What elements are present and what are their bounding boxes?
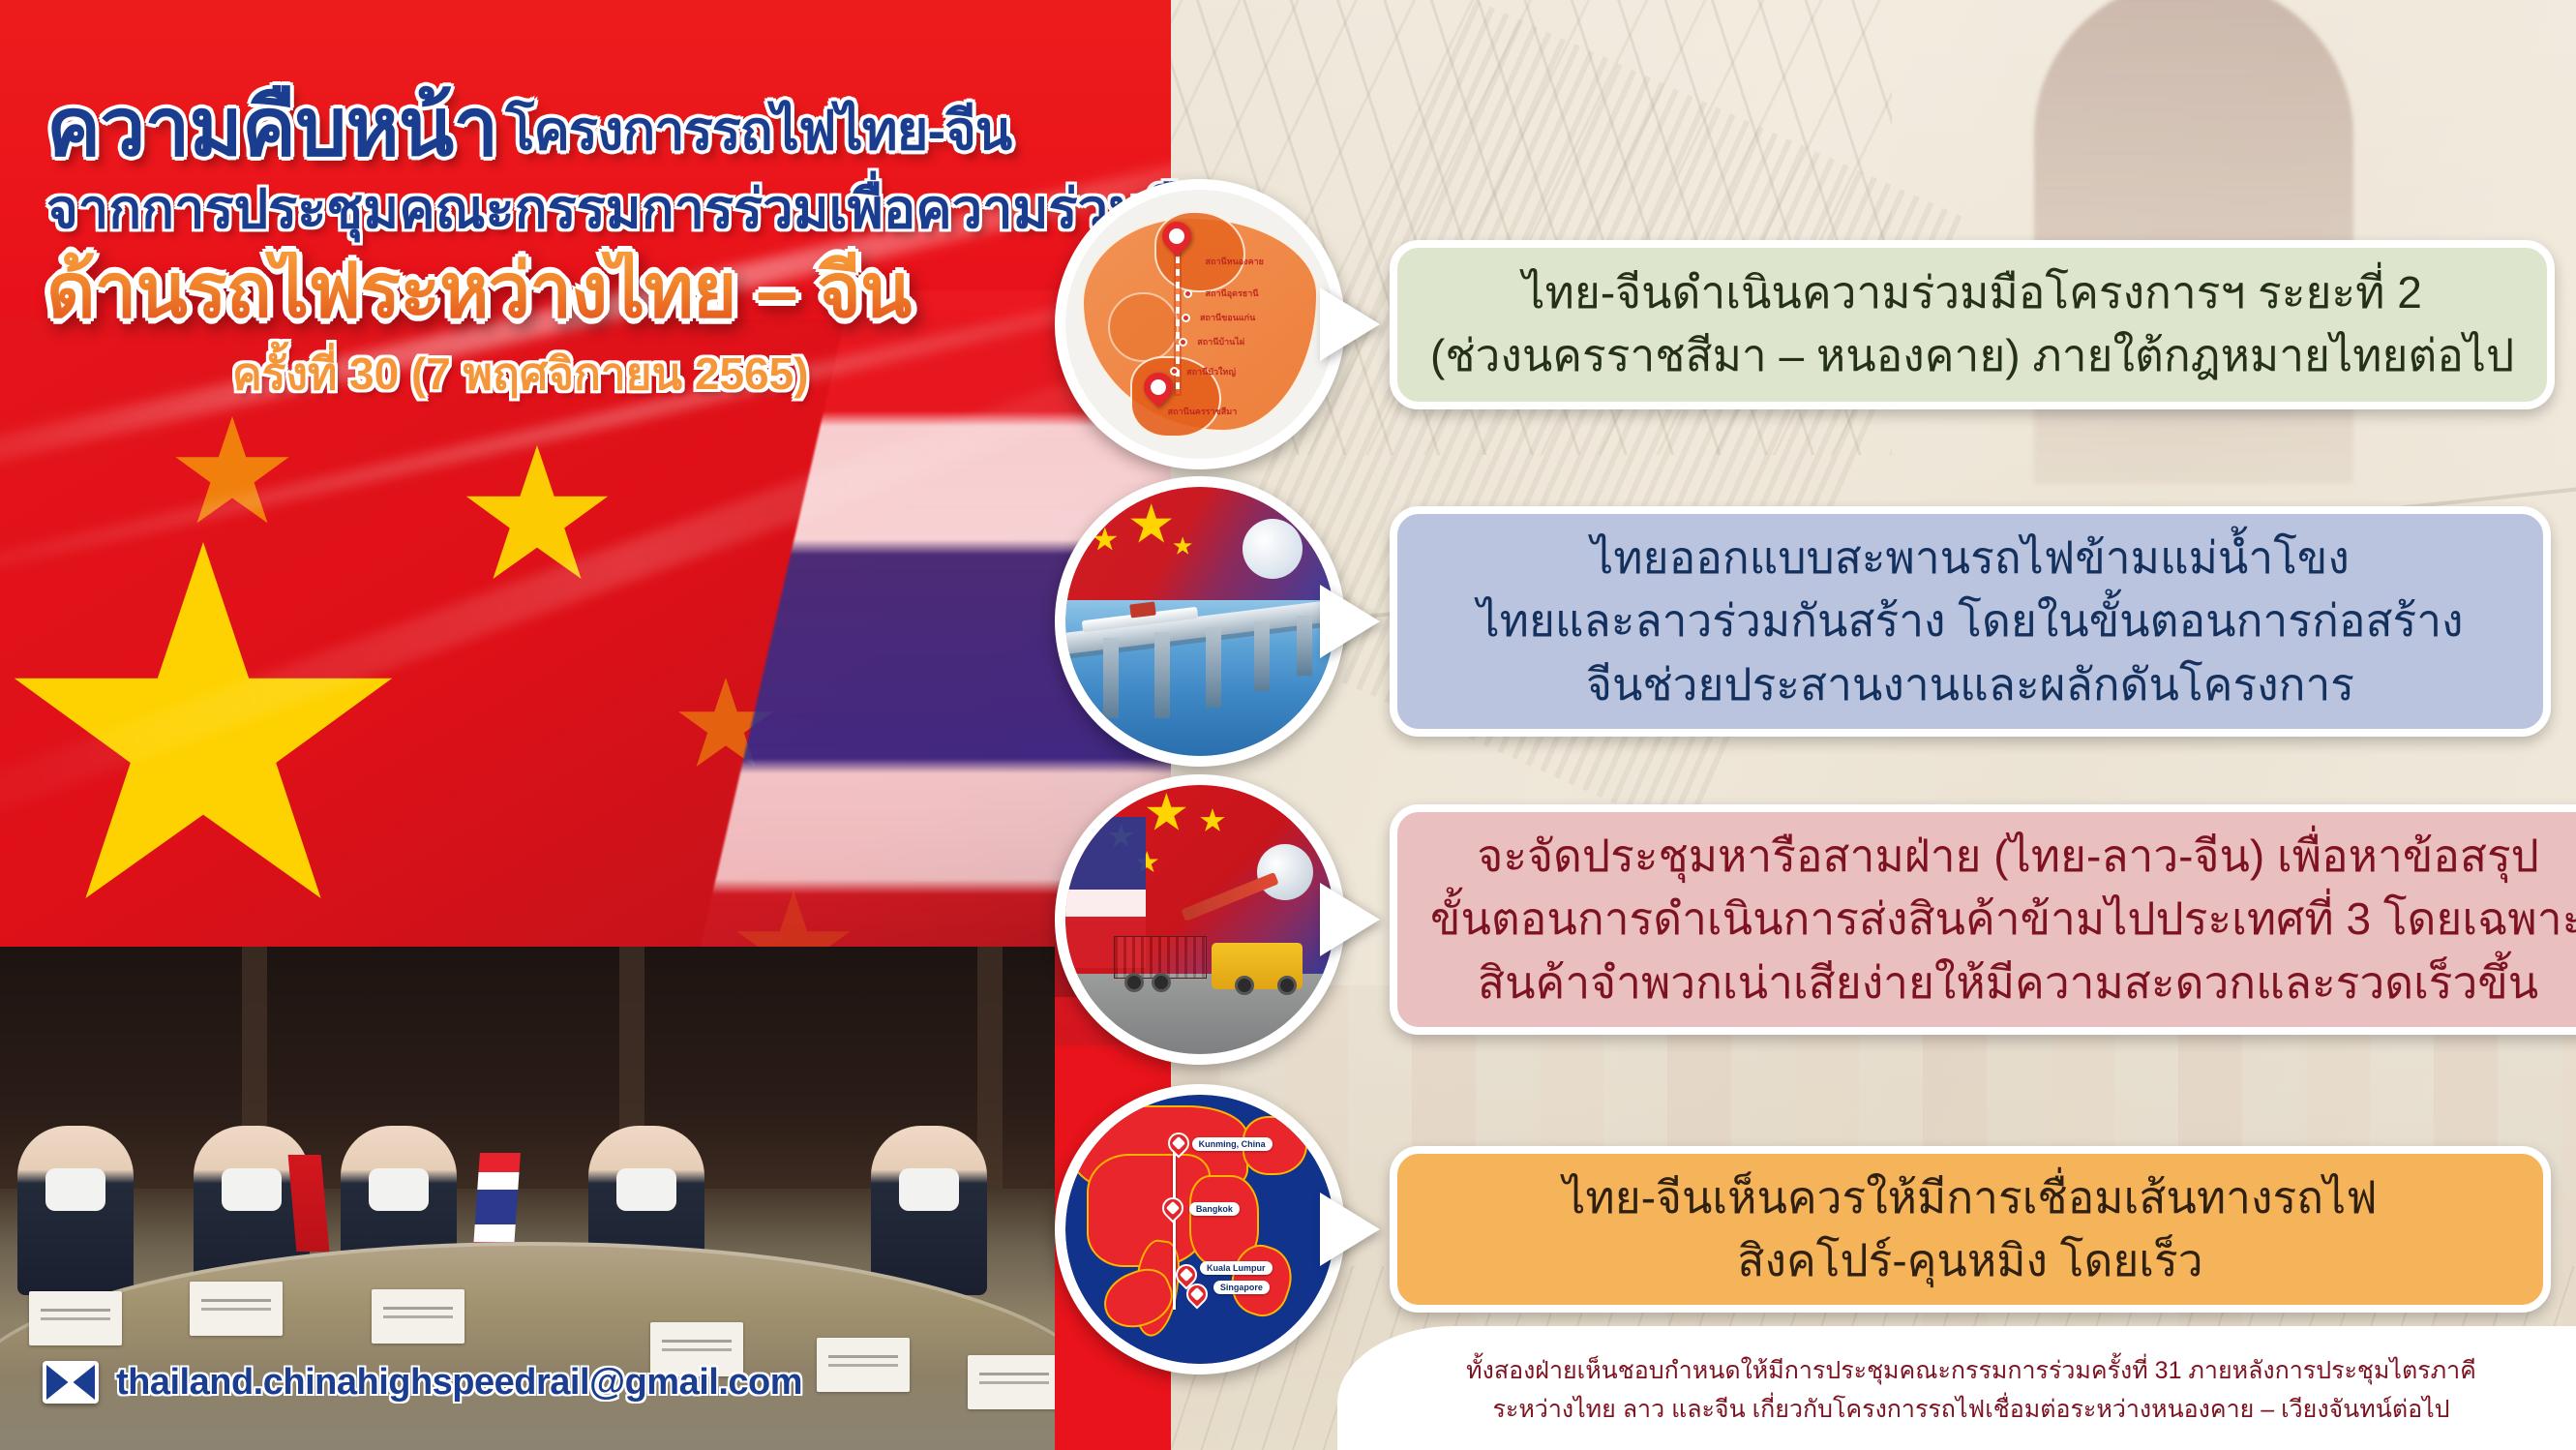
callout-pointer <box>1320 883 1380 956</box>
callout-box-1: ไทย-จีนดำเนินความร่วมมือโครงการฯ ระยะที่… <box>1390 240 2555 409</box>
callout-icon-wrap-2 <box>1055 476 1345 767</box>
bridge-pier <box>1297 616 1312 675</box>
nameplate <box>372 1289 464 1344</box>
nameplate <box>817 1338 910 1392</box>
callout-text-line: ไทยและลาวร่วมกันสร้าง โดยในขั้นตอนการก่อ… <box>1477 589 2463 652</box>
isan-province <box>1108 292 1178 362</box>
callout-text-line: ไทย-จีนเห็นควรให้มีการเชื่อมเส้นทางรถไฟ <box>1563 1166 2377 1229</box>
envelope-icon <box>43 1361 99 1404</box>
callout-text-line: จีนช่วยประสานงานและผลักดันโครงการ <box>1586 653 2354 716</box>
station-dot <box>1182 314 1190 322</box>
face-mask-icon <box>45 1168 105 1211</box>
poster-title-block: ความคืบหน้าโครงการรถไฟไทย-จีน จากการประช… <box>0 85 1113 398</box>
contact-email-bar[interactable]: thailand.chinahighspeedrail@gmail.com <box>43 1361 802 1404</box>
callout-pointer <box>1320 287 1380 361</box>
stacker-wheel <box>1277 976 1297 995</box>
bottom-note: ทั้งสองฝ่ายเห็นชอบกำหนดให้มีการประชุมคณะ… <box>1337 1326 2576 1450</box>
station-label: สถานีหนองคาย <box>1206 255 1264 268</box>
callout-icon-wrap-3 <box>1055 774 1345 1065</box>
callout-text-line: สิงคโปร์-คุนหมิง โดยเร็ว <box>1737 1229 2202 1292</box>
callout-text-line: ไทย-จีนดำเนินความร่วมมือโครงการฯ ระยะที่… <box>1522 261 2421 324</box>
stacker-wheel <box>1235 976 1254 995</box>
city-label: Singapore <box>1213 1281 1270 1294</box>
callout-pointer <box>1320 585 1380 658</box>
nameplate <box>968 1355 1055 1409</box>
isan-map-inner: สถานีหนองคาย สถานีอุดรธานี สถานีขอนแก่น … <box>1065 190 1334 459</box>
city-label: Bangkok <box>1189 1202 1240 1216</box>
face-mask-icon <box>899 1168 959 1211</box>
callout-row-3: จะจัดประชุมหารือสามฝ่าย (ไทย-ลาว-จีน) เพ… <box>1055 774 2551 1065</box>
bridge-pier <box>1254 621 1270 691</box>
title-meeting-number-date: ครั้งที่ 30 (7 พฤศจิกายน 2565) <box>0 351 1113 398</box>
southeast-asia-rail-map-icon: Kunming, China Bangkok Kuala Lumpur Sing… <box>1055 1084 1345 1374</box>
title-line-2: จากการประชุมคณะกรรมการร่วมเพื่อความร่วมม… <box>0 181 1113 237</box>
callout-row-1: สถานีหนองคาย สถานีอุดรธานี สถานีขอนแก่น … <box>1055 179 2551 469</box>
station-label: สถานีบัวใหญ่ <box>1186 365 1236 378</box>
boxcar <box>1129 601 1156 618</box>
moon-icon <box>1243 519 1303 579</box>
mekong-railway-bridge-icon <box>1055 476 1345 767</box>
face-mask-icon <box>616 1168 676 1211</box>
station-label: สถานีบ้านไผ่ <box>1197 335 1244 348</box>
station-label: สถานีนครราชสีมา <box>1168 405 1238 418</box>
rail-route-line <box>1173 1143 1176 1310</box>
callout-text-line: ขั้นตอนการดำเนินการส่งสินค้าข้ามไปประเทศ… <box>1430 888 2576 951</box>
station-label: สถานีขอนแก่น <box>1200 311 1255 324</box>
bridge-graphic <box>1065 487 1334 756</box>
callout-text-line: ไทยออกแบบสะพานรถไฟข้ามแม่น้ำโขง <box>1591 527 2350 589</box>
yard-inner <box>1065 785 1334 1054</box>
callout-row-2: ไทยออกแบบสะพานรถไฟข้ามแม่น้ำโขง ไทยและลา… <box>1055 476 2551 767</box>
container-yard-graphic <box>1065 785 1334 1054</box>
callout-text-line: (ช่วงนครราชสีมา – หนองคาย) ภายใต้กฎหมายไ… <box>1430 324 2514 387</box>
station-label: สถานีอุดรธานี <box>1206 287 1259 300</box>
bridge-pier <box>1206 627 1221 708</box>
china-flag-star <box>1093 528 1118 553</box>
nameplate <box>190 1282 283 1336</box>
callout-pointer <box>1320 1193 1380 1266</box>
china-flag-star <box>1200 808 1225 833</box>
contact-email-text[interactable]: thailand.chinahighspeedrail@gmail.com <box>116 1362 802 1404</box>
callout-text-line: สินค้าจำพวกเน่าเสียง่ายให้มีความสะดวกและ… <box>1478 952 2538 1014</box>
infographic-poster: ความคืบหน้าโครงการรถไฟไทย-จีน จากการประช… <box>0 0 2576 1450</box>
city-label: Kunming, China <box>1192 1137 1273 1151</box>
callout-text-line: จะจัดประชุมหารือสามฝ่าย (ไทย-ลาว-จีน) เพ… <box>1477 825 2538 888</box>
face-mask-icon <box>222 1168 282 1211</box>
title-main-subtext: โครงการรถไฟไทย-จีน <box>505 100 1011 161</box>
title-main-text: ความคืบหน้า <box>46 81 497 172</box>
callout-box-4: ไทย-จีนเห็นควรให้มีการเชื่อมเส้นทางรถไฟ … <box>1390 1146 2551 1313</box>
title-line-main: ความคืบหน้าโครงการรถไฟไทย-จีน <box>0 85 1113 169</box>
southeast-asia-map-graphic: Kunming, China Bangkok Kuala Lumpur Sing… <box>1065 1095 1334 1364</box>
bottom-note-line: ระหว่างไทย ลาว และจีน เกี่ยวกับโครงการรถ… <box>1424 1390 2518 1429</box>
china-flag-star <box>1146 793 1186 833</box>
china-flag-star <box>1130 503 1173 546</box>
china-flag-star <box>1173 536 1192 556</box>
title-line-3: ด้านรถไฟระหว่างไทย – จีน <box>0 252 1113 330</box>
bottom-note-line: ทั้งสองฝ่ายเห็นชอบกำหนดให้มีการประชุมคณะ… <box>1424 1351 2518 1390</box>
callout-box-3: จะจัดประชุมหารือสามฝ่าย (ไทย-ลาว-จีน) เพ… <box>1390 804 2576 1035</box>
bridge-pier <box>1154 632 1170 718</box>
bridge-inner <box>1065 487 1334 756</box>
moon-icon <box>1257 844 1313 900</box>
city-label: Kuala Lumpur <box>1200 1261 1273 1275</box>
callout-box-2: ไทยออกแบบสะพานรถไฟข้ามแม่น้ำโขง ไทยและลา… <box>1390 506 2551 737</box>
trailer-wheel <box>1152 973 1171 992</box>
isan-railway-map-icon: สถานีหนองคาย สถานีอุดรธานี สถานีขอนแก่น … <box>1055 179 1345 469</box>
delegate <box>871 1126 987 1295</box>
container-reach-stacker-icon <box>1055 774 1345 1065</box>
callout-icon-wrap-1: สถานีหนองคาย สถานีอุดรธานี สถานีขอนแก่น … <box>1055 179 1345 469</box>
sea-map-inner: Kunming, China Bangkok Kuala Lumpur Sing… <box>1065 1095 1334 1364</box>
isan-map-graphic: สถานีหนองคาย สถานีอุดรธานี สถานีขอนแก่น … <box>1065 190 1334 459</box>
delegate <box>17 1126 134 1295</box>
station-dot <box>1179 338 1187 347</box>
callout-icon-wrap-4: Kunming, China Bangkok Kuala Lumpur Sing… <box>1055 1084 1345 1374</box>
bridge-pier <box>1103 638 1119 718</box>
face-mask-icon <box>369 1168 429 1211</box>
nameplate <box>29 1291 122 1345</box>
